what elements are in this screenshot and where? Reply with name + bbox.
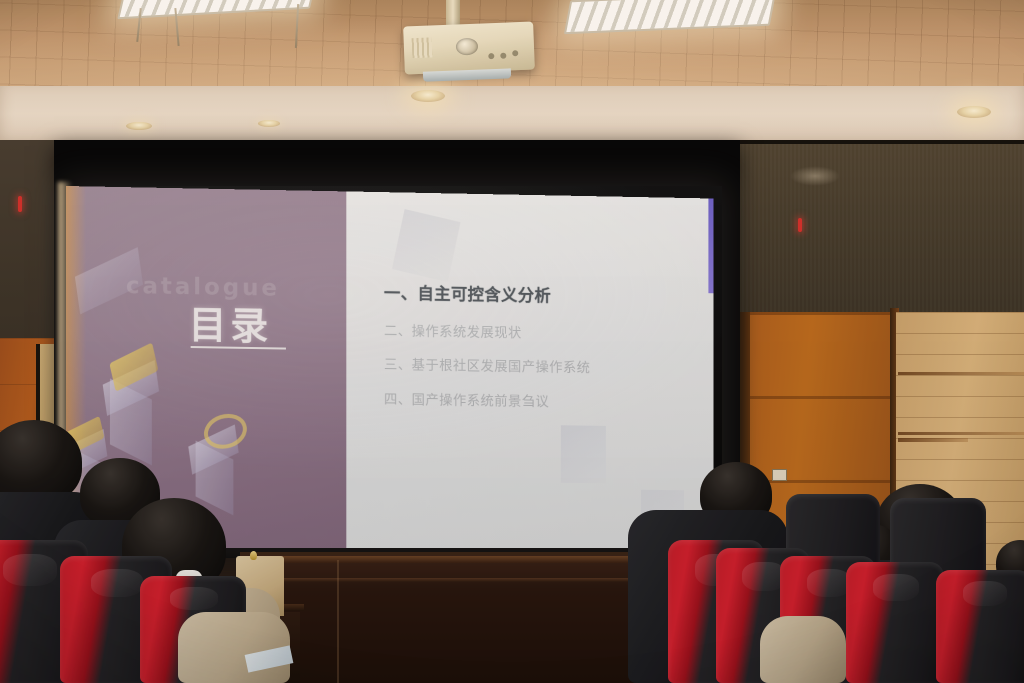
slat-seam xyxy=(898,438,968,442)
slat-seam xyxy=(898,372,1024,375)
projector-lens-icon xyxy=(456,38,479,56)
slide-table-of-contents: 一、自主可控含义分析 二、操作系统发展现状 三、基于根社区发展国产操作系统 四、… xyxy=(384,286,678,432)
slide-title: 目录 xyxy=(189,294,272,350)
toc-item-4: 四、国产操作系统前景刍议 xyxy=(384,393,678,411)
red-indicator-led-icon xyxy=(798,218,802,232)
right-acoustic-wall-panel xyxy=(734,140,1024,321)
slide-ghost-shape xyxy=(392,209,461,282)
auditorium-seat[interactable] xyxy=(936,570,1024,683)
toc-item-1: 一、自主可控含义分析 xyxy=(384,286,678,307)
projector-button xyxy=(500,53,506,59)
toc-item-3: 三、基于根社区发展国产操作系统 xyxy=(384,359,678,377)
toc-item-2: 二、操作系统发展现状 xyxy=(384,325,678,343)
slide-accent-bar xyxy=(708,198,713,293)
projection-screen-surface: catalogue 目录 一、自主可控含义分析 二、操作系统发展现状 三、基于根… xyxy=(66,186,722,548)
wall-light-reflection xyxy=(790,166,840,186)
stage-panel-seam xyxy=(337,560,339,683)
recessed-downlight-icon xyxy=(126,122,152,130)
slide-right-panel: 一、自主可控含义分析 二、操作系统发展现状 三、基于根社区发展国产操作系统 四、… xyxy=(346,191,713,548)
lecture-hall-photo: catalogue 目录 一、自主可控含义分析 二、操作系统发展现状 三、基于根… xyxy=(0,0,1024,683)
lectern-ornament-icon xyxy=(250,551,257,560)
wall-switch-plate[interactable] xyxy=(772,469,787,481)
ceiling-projector xyxy=(403,22,535,75)
slide-ghost-shape xyxy=(561,425,606,483)
projector-button xyxy=(512,50,518,56)
audience-member-body xyxy=(760,616,846,683)
recessed-downlight-icon xyxy=(957,106,991,118)
presentation-slide: catalogue 目录 一、自主可控含义分析 二、操作系统发展现状 三、基于根… xyxy=(66,186,713,548)
ceiling-soffit xyxy=(0,86,1024,148)
recessed-downlight-icon xyxy=(258,120,280,127)
slat-seam xyxy=(898,432,1024,435)
red-indicator-led-icon xyxy=(18,196,22,212)
auditorium-seat[interactable] xyxy=(846,562,944,683)
projector-button xyxy=(488,53,494,59)
projector-vent xyxy=(412,37,433,58)
audience-member-body xyxy=(178,612,290,683)
recessed-downlight-icon xyxy=(411,90,445,102)
